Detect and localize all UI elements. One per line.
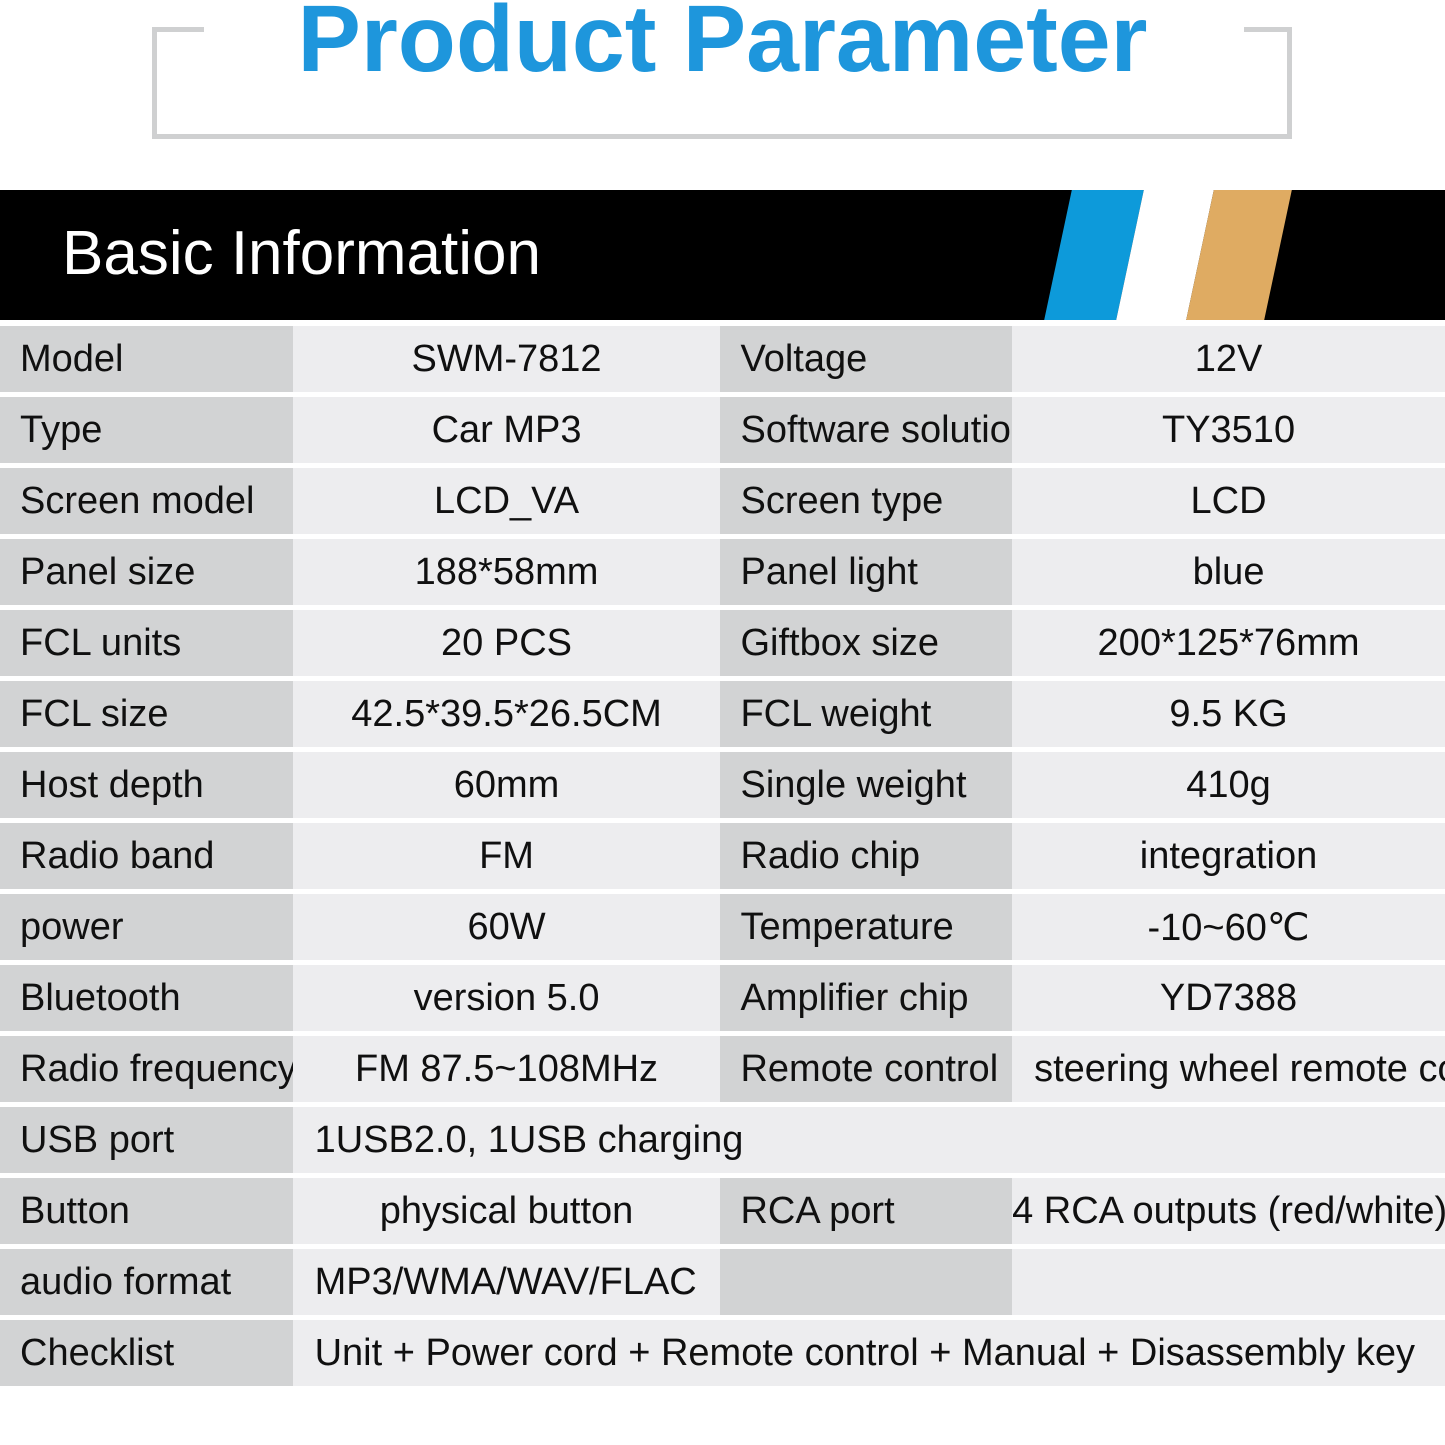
row-label-primary: audio format bbox=[0, 1249, 293, 1315]
row-value-primary: 188*58mm bbox=[293, 539, 721, 605]
page-title: Product Parameter bbox=[0, 0, 1445, 87]
table-row: Panel size188*58mmPanel lightblue bbox=[0, 539, 1445, 605]
row-value-secondary: 200*125*76mm bbox=[1012, 610, 1445, 676]
row-value-secondary: -10~60℃ bbox=[1012, 894, 1445, 960]
row-value-primary: LCD_VA bbox=[293, 468, 721, 534]
row-value-primary: 60mm bbox=[293, 752, 721, 818]
table-row: FCL units20 PCSGiftbox size200*125*76mm bbox=[0, 610, 1445, 676]
row-label-secondary: Temperature bbox=[720, 894, 1012, 960]
row-value-secondary: LCD bbox=[1012, 468, 1445, 534]
row-value-primary: FM bbox=[293, 823, 721, 889]
table-row: Host depth60mmSingle weight410g bbox=[0, 752, 1445, 818]
row-value-primary: 42.5*39.5*26.5CM bbox=[293, 681, 721, 747]
table-row: Buttonphysical buttonRCA port4 RCA outpu… bbox=[0, 1178, 1445, 1244]
row-label-primary: FCL units bbox=[0, 610, 293, 676]
row-value-secondary: YD7388 bbox=[1012, 965, 1445, 1031]
section-header-band: Basic Information bbox=[0, 190, 1445, 320]
row-label-secondary: Giftbox size bbox=[720, 610, 1012, 676]
row-label-secondary: Remote control bbox=[720, 1036, 1012, 1102]
title-block: Product Parameter bbox=[0, 0, 1445, 190]
row-value-primary: Car MP3 bbox=[293, 397, 721, 463]
row-value-secondary: 410g bbox=[1012, 752, 1445, 818]
row-value-primary: 20 PCS bbox=[293, 610, 721, 676]
row-label-primary: FCL size bbox=[0, 681, 293, 747]
row-value-secondary: TY3510 bbox=[1012, 397, 1445, 463]
row-label-secondary: Voltage bbox=[720, 326, 1012, 392]
table-row: Radio bandFMRadio chipintegration bbox=[0, 823, 1445, 889]
row-label-secondary: Screen type bbox=[720, 468, 1012, 534]
row-label-secondary-empty bbox=[720, 1249, 1012, 1315]
row-value-primary: physical button bbox=[293, 1178, 721, 1244]
row-label-primary: Button bbox=[0, 1178, 293, 1244]
row-label-primary: Bluetooth bbox=[0, 965, 293, 1031]
row-label-secondary: Panel light bbox=[720, 539, 1012, 605]
table-row: power60WTemperature-10~60℃ bbox=[0, 894, 1445, 960]
row-label-secondary: RCA port bbox=[720, 1178, 1012, 1244]
table-row: Screen modelLCD_VAScreen typeLCD bbox=[0, 468, 1445, 534]
table-row: TypeCar MP3Software solutionTY3510 bbox=[0, 397, 1445, 463]
table-row: USB port1USB2.0, 1USB charging bbox=[0, 1107, 1445, 1173]
table-row: audio formatMP3/WMA/WAV/FLAC bbox=[0, 1249, 1445, 1315]
row-value-secondary-empty bbox=[1012, 1249, 1445, 1315]
row-label-primary: Radio frequency bbox=[0, 1036, 293, 1102]
decorative-stripes bbox=[950, 190, 1350, 320]
table-row: ChecklistUnit + Power cord + Remote cont… bbox=[0, 1320, 1445, 1386]
row-label-primary: Panel size bbox=[0, 539, 293, 605]
row-value-primary: version 5.0 bbox=[293, 965, 721, 1031]
table-row: FCL size42.5*39.5*26.5CMFCL weight9.5 KG bbox=[0, 681, 1445, 747]
row-value-primary: SWM-7812 bbox=[293, 326, 721, 392]
table-row: Bluetoothversion 5.0Amplifier chipYD7388 bbox=[0, 965, 1445, 1031]
row-label-primary: Model bbox=[0, 326, 293, 392]
row-label-primary: Host depth bbox=[0, 752, 293, 818]
section-heading: Basic Information bbox=[62, 223, 541, 285]
row-value-fullspan: Unit + Power cord + Remote control + Man… bbox=[293, 1320, 1445, 1386]
row-label-secondary: Single weight bbox=[720, 752, 1012, 818]
row-value-fullspan: 1USB2.0, 1USB charging bbox=[293, 1107, 1445, 1173]
row-label-primary: Checklist bbox=[0, 1320, 293, 1386]
row-value-primary: FM 87.5~108MHz bbox=[293, 1036, 721, 1102]
row-label-primary: Type bbox=[0, 397, 293, 463]
row-label-primary: USB port bbox=[0, 1107, 293, 1173]
row-value-secondary: 4 RCA outputs (red/white) bbox=[1012, 1178, 1445, 1244]
row-label-secondary: Radio chip bbox=[720, 823, 1012, 889]
row-value-secondary: steering wheel remote control bbox=[1012, 1036, 1445, 1102]
specification-table: ModelSWM-7812Voltage12VTypeCar MP3Softwa… bbox=[0, 321, 1445, 1391]
row-value-secondary: integration bbox=[1012, 823, 1445, 889]
row-label-primary: Screen model bbox=[0, 468, 293, 534]
row-value-secondary: blue bbox=[1012, 539, 1445, 605]
row-label-primary: Radio band bbox=[0, 823, 293, 889]
row-value-secondary: 9.5 KG bbox=[1012, 681, 1445, 747]
table-row: ModelSWM-7812Voltage12V bbox=[0, 326, 1445, 392]
row-value-secondary: 12V bbox=[1012, 326, 1445, 392]
row-value-primary: 60W bbox=[293, 894, 721, 960]
row-value-primary: MP3/WMA/WAV/FLAC bbox=[293, 1249, 721, 1315]
table-row: Radio frequencyFM 87.5~108MHzRemote cont… bbox=[0, 1036, 1445, 1102]
row-label-primary: power bbox=[0, 894, 293, 960]
row-label-secondary: Amplifier chip bbox=[720, 965, 1012, 1031]
row-label-secondary: Software solution bbox=[720, 397, 1012, 463]
row-label-secondary: FCL weight bbox=[720, 681, 1012, 747]
